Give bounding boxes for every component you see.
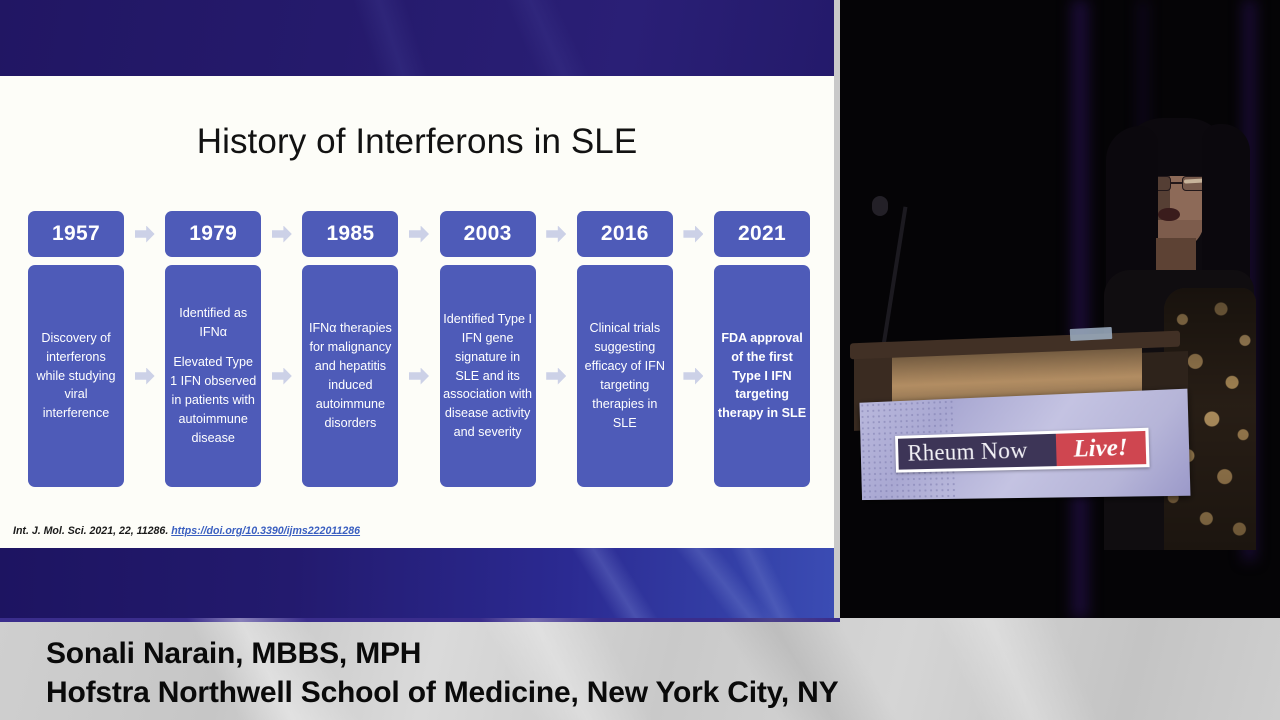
speaker-mouth <box>1158 208 1180 221</box>
slide-top-band <box>0 0 834 76</box>
arrow-right-icon <box>135 368 155 385</box>
podium-papers <box>1070 327 1113 341</box>
timeline-year-box: 1957 <box>28 211 124 257</box>
timeline-year-box: 1979 <box>165 211 261 257</box>
timeline-arrow-gap <box>398 368 439 385</box>
timeline-description-box: IFNα therapies for malignancy and hepati… <box>302 265 398 487</box>
stage-curtain-glow <box>1072 0 1088 618</box>
timeline-description-box: Identified Type I IFN gene signature in … <box>440 265 536 487</box>
citation-link[interactable]: https://doi.org/10.3390/ijms222011286 <box>171 525 360 537</box>
timeline-arrow-gap <box>536 368 577 385</box>
timeline-description-box: Clinical trials suggesting efficacy of I… <box>577 265 673 487</box>
podium-banner-brand: Rheum Now <box>898 434 1057 470</box>
slide-title: History of Interferons in SLE <box>0 122 834 162</box>
timeline-arrow-gap <box>398 226 439 243</box>
caption-text-block: Sonali Narain, MBBS, MPH Hofstra Northwe… <box>46 634 838 712</box>
slide-bottom-band <box>0 548 834 618</box>
speaker-affiliation: Hofstra Northwell School of Medicine, Ne… <box>46 673 838 712</box>
speaker-name: Sonali Narain, MBBS, MPH <box>46 634 838 673</box>
timeline-description-paragraph: IFNα therapies for malignancy and hepati… <box>305 319 395 432</box>
timeline-arrow-gap <box>261 226 302 243</box>
microphone-head <box>872 196 888 216</box>
arrow-right-icon <box>683 226 703 243</box>
timeline-year-box: 2016 <box>577 211 673 257</box>
timeline-arrow-gap <box>261 368 302 385</box>
timeline-description-paragraph: Discovery of interferons while studying … <box>31 329 121 423</box>
arrow-right-icon <box>409 226 429 243</box>
podium-banner-logo: Rheum Now Live! <box>895 428 1149 473</box>
microphone-arm <box>880 207 907 356</box>
citation-text: Int. J. Mol. Sci. 2021, 22, 11286. <box>13 525 171 537</box>
arrow-right-icon <box>272 226 292 243</box>
timeline-description-box: FDA approval of the first Type I IFN tar… <box>714 265 810 487</box>
screen: History of Interferons in SLE 1957197919… <box>0 0 1280 720</box>
timeline-description-paragraph: Identified as IFNα <box>168 304 258 342</box>
arrow-right-icon <box>135 226 155 243</box>
timeline-year-box: 1985 <box>302 211 398 257</box>
caption-accent-line <box>0 618 840 622</box>
timeline-description-paragraph: Identified Type I IFN gene signature in … <box>443 310 533 442</box>
podium-banner-live: Live! <box>1056 431 1146 466</box>
presentation-slide: History of Interferons in SLE 1957197919… <box>0 0 834 618</box>
podium-banner: Rheum Now Live! <box>859 389 1190 500</box>
arrow-right-icon <box>683 368 703 385</box>
arrow-right-icon <box>409 368 429 385</box>
timeline-year-row: 195719791985200320162021 <box>28 211 810 257</box>
timeline-year-box: 2003 <box>440 211 536 257</box>
timeline-description-paragraph: FDA approval of the first Type I IFN tar… <box>717 329 807 423</box>
timeline-arrow-gap <box>536 226 577 243</box>
timeline-description-box: Identified as IFNαElevated Type 1 IFN ob… <box>165 265 261 487</box>
timeline-arrow-gap <box>673 368 714 385</box>
timeline-description-paragraph: Clinical trials suggesting efficacy of I… <box>580 319 670 432</box>
citation: Int. J. Mol. Sci. 2021, 22, 11286. https… <box>13 525 360 537</box>
timeline-year-box: 2021 <box>714 211 810 257</box>
timeline-arrow-gap <box>124 226 165 243</box>
arrow-right-icon <box>272 368 292 385</box>
timeline-arrow-gap <box>124 368 165 385</box>
arrow-right-icon <box>546 226 566 243</box>
timeline-description-paragraph: Elevated Type 1 IFN observed in patients… <box>168 353 258 447</box>
eyeglass-bridge <box>1171 182 1182 184</box>
speaker-video[interactable]: Rheum Now Live! <box>840 0 1280 618</box>
timeline-arrow-gap <box>673 226 714 243</box>
arrow-right-icon <box>546 368 566 385</box>
timeline-description-box: Discovery of interferons while studying … <box>28 265 124 487</box>
speaker-caption-bar: Sonali Narain, MBBS, MPH Hofstra Northwe… <box>0 618 1280 720</box>
timeline-description-row: Discovery of interferons while studying … <box>28 265 810 487</box>
